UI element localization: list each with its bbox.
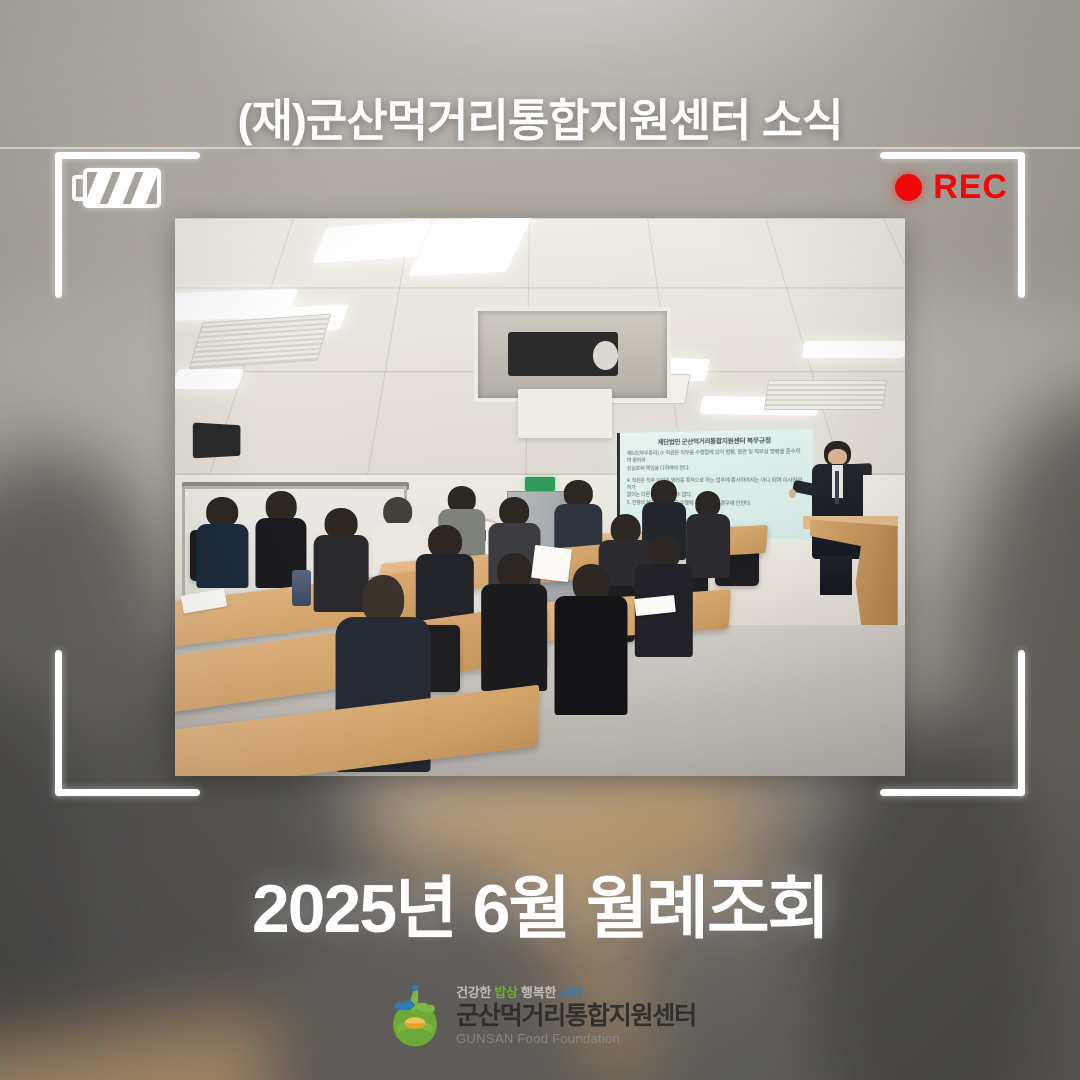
slide-title: 재단법인 군산먹거리통합지원센터 복무규정 (626, 435, 804, 447)
header-divider (0, 147, 1080, 149)
poster-canvas: (재)군산먹거리통합지원센터 소식 REC (0, 0, 1080, 1080)
water-tumbler (292, 570, 311, 606)
rec-label: REC (933, 168, 1008, 207)
event-photo: 재단법인 군산먹거리통합지원센터 복무규정 제5조(복무윤리) ① 직원은 직무… (175, 218, 905, 776)
page-title: (재)군산먹거리통합지원센터 소식 (0, 84, 1080, 149)
battery-icon (72, 168, 161, 208)
rec-indicator: REC (895, 168, 1008, 207)
wall-speaker (193, 423, 241, 459)
gunsan-food-foundation-emblem (384, 983, 446, 1049)
logo-tagline: 건강한 밥상 행복한 군산 (456, 986, 696, 1000)
emergency-exit-sign (525, 477, 554, 491)
logo-subtitle: GUNSAN Food Foundation (456, 1031, 696, 1046)
attendee (635, 536, 693, 653)
record-dot-icon (895, 174, 922, 201)
attendee (555, 564, 628, 709)
ceiling-projector (474, 307, 671, 402)
event-headline: 2025년 6월 월례조회 (0, 853, 1080, 952)
handout-paper (531, 545, 571, 583)
attendee (197, 497, 248, 586)
logo-text-block: 건강한 밥상 행복한 군산 군산먹거리통합지원센터 GUNSAN Food Fo… (456, 986, 696, 1046)
header-title-bar: (재)군산먹거리통합지원센터 소식 (0, 84, 1080, 149)
battery-level-bars (83, 168, 161, 208)
battery-terminal-icon (72, 175, 83, 201)
headline-block: 2025년 6월 월례조회 (0, 853, 1080, 952)
logo-name: 군산먹거리통합지원센터 (456, 1003, 696, 1029)
organization-logo: 건강한 밥상 행복한 군산 군산먹거리통합지원센터 GUNSAN Food Fo… (0, 983, 1080, 1049)
